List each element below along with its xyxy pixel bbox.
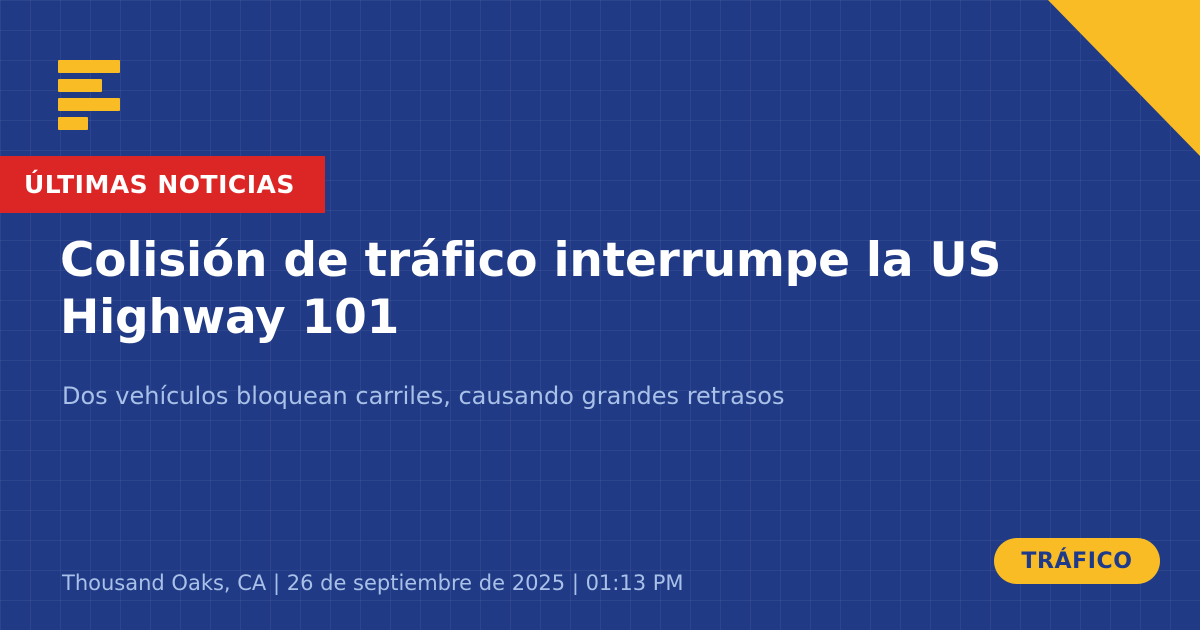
subtitle: Dos vehículos bloquean carriles, causand… [62, 381, 1102, 412]
category-badge-traffic: TRÁFICO [994, 538, 1160, 584]
corner-wedge-decoration [1048, 0, 1200, 156]
logo-bar-2 [58, 79, 102, 92]
logo-bar-1 [58, 60, 120, 73]
news-graphic-card: ÚLTIMAS NOTICIAS Colisión de tráfico int… [0, 0, 1200, 630]
breaking-news-badge: ÚLTIMAS NOTICIAS [0, 156, 325, 213]
headline: Colisión de tráfico interrumpe la US Hig… [60, 232, 1100, 347]
brand-logo [58, 60, 130, 130]
logo-bar-3 [58, 98, 120, 111]
meta-line: Thousand Oaks, CA | 26 de septiembre de … [62, 571, 684, 595]
logo-bar-4 [58, 117, 88, 130]
